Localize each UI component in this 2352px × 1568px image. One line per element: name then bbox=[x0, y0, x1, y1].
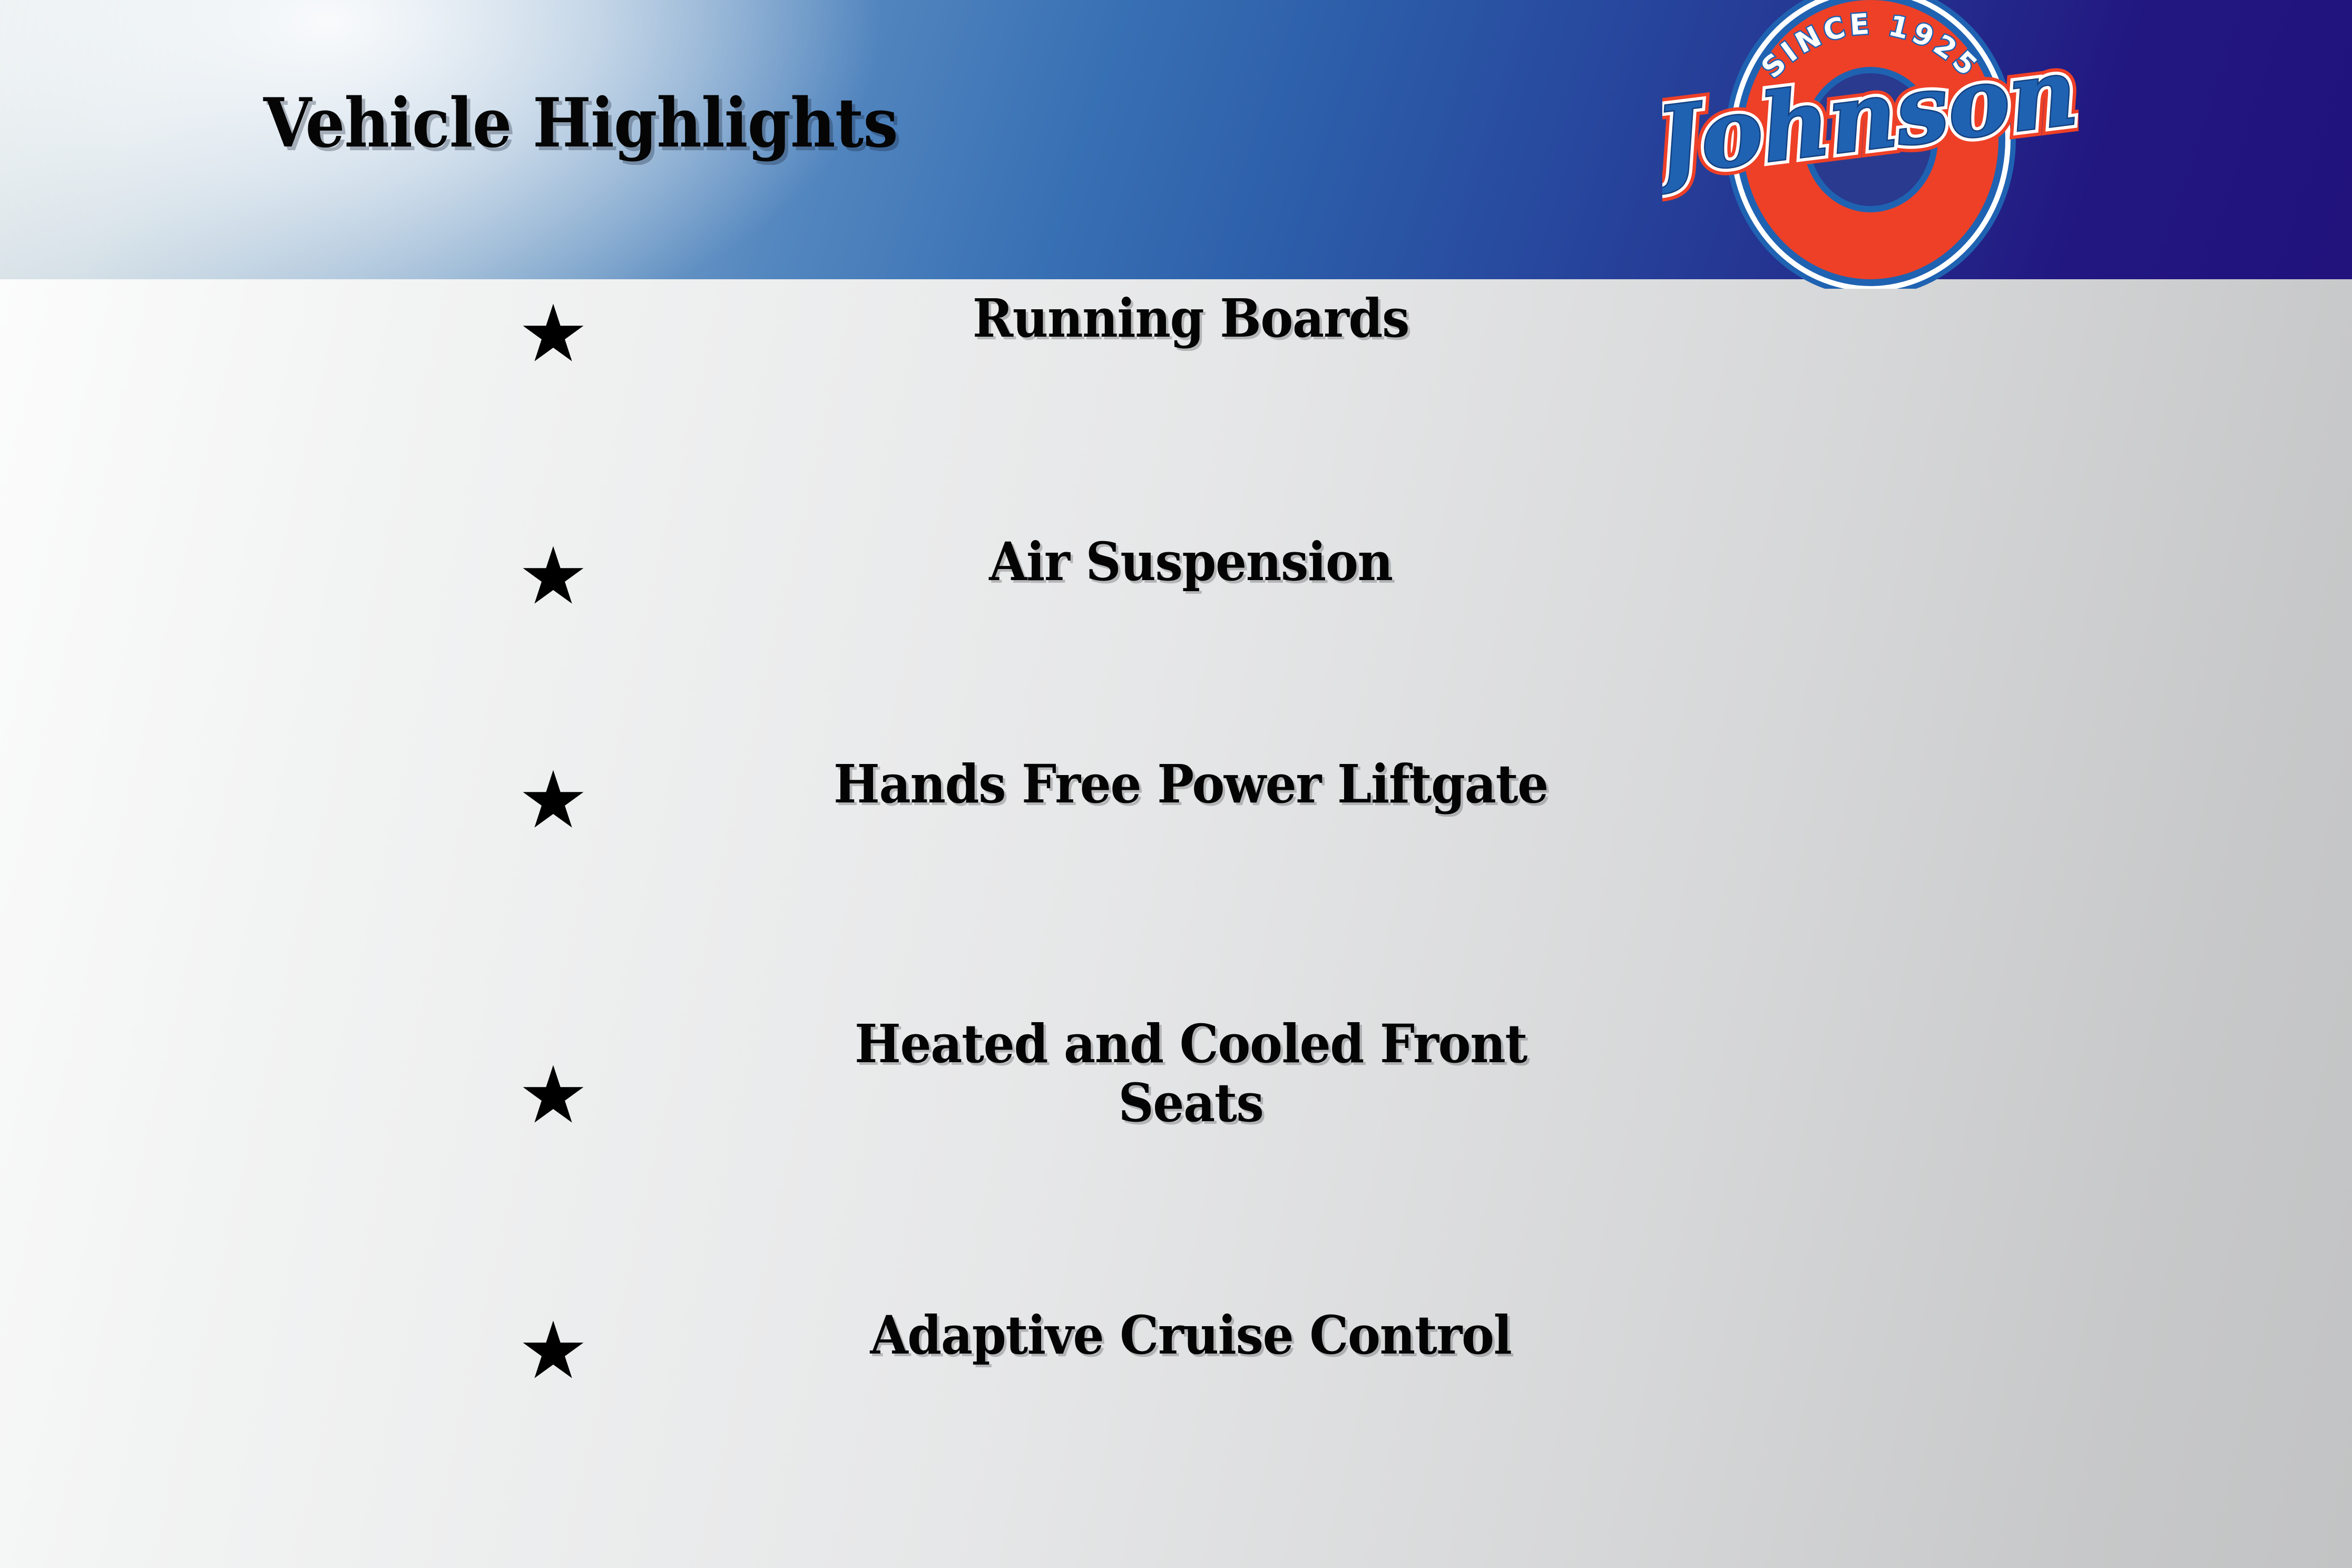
list-item[interactable]: ★ Air Suspension bbox=[0, 537, 2352, 764]
list-item-label: Running Boards bbox=[632, 289, 1749, 348]
star-icon: ★ bbox=[508, 761, 598, 840]
list-item[interactable]: ★ Heated and Cooled Front Seats bbox=[0, 1001, 2352, 1296]
star-icon: ★ bbox=[508, 1056, 598, 1135]
slide-vehicle-highlights: Vehicle Highlights SINCE 1925 bbox=[0, 0, 2352, 1568]
list-item[interactable]: ★ Running Boards bbox=[0, 279, 2352, 537]
highlights-list: ★ Running Boards ★ Air Suspension ★ Hand… bbox=[0, 279, 2352, 1568]
list-item-label: Air Suspension bbox=[632, 532, 1749, 591]
johnson-motors-logo[interactable]: SINCE 1925 MOTORS Johnson Johnson Johnso… bbox=[1662, 0, 2079, 289]
star-icon: ★ bbox=[508, 537, 598, 616]
list-item-label: Hands Free Power Liftgate bbox=[632, 754, 1749, 814]
list-item-label: Heated and Cooled Front Seats bbox=[632, 1014, 1749, 1132]
list-item[interactable]: ★ Hands Free Power Liftgate bbox=[0, 764, 2352, 1001]
list-item-label: Adaptive Cruise Control bbox=[632, 1306, 1749, 1365]
page-title: Vehicle Highlights bbox=[263, 90, 898, 157]
star-icon: ★ bbox=[508, 1312, 598, 1391]
list-item[interactable]: ★ Adaptive Cruise Control bbox=[0, 1296, 2352, 1568]
star-icon: ★ bbox=[508, 295, 598, 374]
